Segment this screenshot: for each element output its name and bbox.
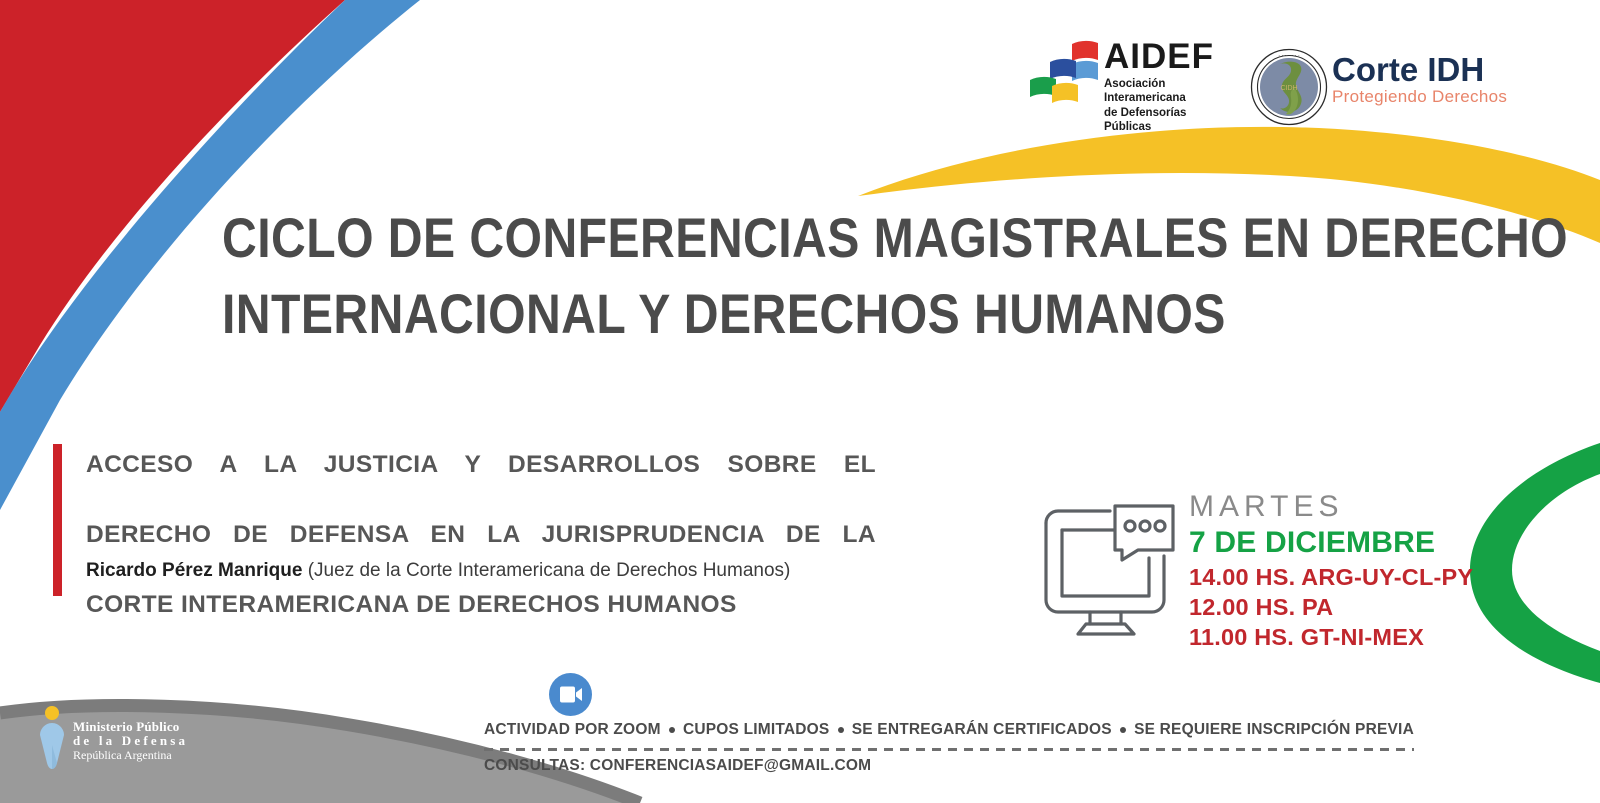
corte-idh-text-block: Corte IDH Protegiendo Derechos <box>1332 52 1507 107</box>
title-line-1: CICLO DE CONFERENCIAS MAGISTRALES EN DER… <box>222 200 1185 276</box>
speaker-name: Ricardo Pérez Manrique <box>86 560 302 581</box>
footer-dashed-divider <box>484 748 1414 751</box>
aidef-text-block: AIDEF Asociación Interamericana de Defen… <box>1104 38 1234 134</box>
corte-idh-tagline: Protegiendo Derechos <box>1332 87 1507 107</box>
aidef-name: AIDEF <box>1104 38 1234 76</box>
schedule-time-0: 14.00 HS. ARG-UY-CL-PY <box>1189 562 1479 592</box>
monitor-chat-icon <box>1018 478 1178 638</box>
header-logos: AIDEF Asociación Interamericana de Defen… <box>1028 30 1508 140</box>
schedule-date: 7 DE DICIEMBRE <box>1189 524 1479 562</box>
footer-item-3: SE REQUIERE INSCRIPCIÓN PREVIA <box>1134 721 1414 739</box>
speaker-line: Ricardo Pérez Manrique (Juez de la Corte… <box>86 560 986 582</box>
footer-items: ACTIVIDAD POR ZOOM CUPOS LIMITADOS SE EN… <box>484 719 1414 741</box>
footer-separator-dot <box>1120 727 1126 733</box>
aidef-subtitle-line2: de Defensorías Públicas <box>1104 106 1234 134</box>
footer-separator-dot <box>669 727 675 733</box>
corte-idh-logo: CIDH · · · · · · · Corte IDH Protegiendo… <box>1250 30 1510 140</box>
schedule-time-1: 12.00 HS. PA <box>1189 592 1479 622</box>
footer-item-0: ACTIVIDAD POR ZOOM <box>484 721 661 739</box>
mpd-line-3: República Argentina <box>73 748 188 762</box>
speaker-role: (Juez de la Corte Interamericana de Dere… <box>302 560 790 581</box>
mpd-line-1: Ministerio Público <box>73 720 188 734</box>
footer-item-2: SE ENTREGARÁN CERTIFICADOS <box>852 721 1112 739</box>
corte-idh-name: Corte IDH <box>1332 52 1507 88</box>
green-arc-shape <box>1470 443 1600 683</box>
svg-text:CIDH: CIDH <box>1280 85 1297 92</box>
mpd-figure-icon <box>35 705 71 771</box>
footer-contact: CONSULTAS: CONFERENCIASAIDEF@GMAIL.COM <box>484 757 871 775</box>
aidef-subtitle-line1: Asociación Interamericana <box>1104 77 1234 105</box>
red-accent-bar <box>53 444 62 596</box>
poster-canvas: AIDEF Asociación Interamericana de Defen… <box>0 0 1600 803</box>
footer-separator-dot <box>838 727 844 733</box>
title-line-2: INTERNACIONAL Y DERECHOS HUMANOS <box>222 276 1185 352</box>
mpd-logo: Ministerio Público de la Defensa Repúbli… <box>35 705 235 775</box>
talk-title: ACCESO A LA JUSTICIA Y DESARROLLOS SOBRE… <box>86 447 876 622</box>
corte-idh-seal-icon: CIDH · · · · · · · <box>1250 48 1328 126</box>
svg-text:· · · · · · ·: · · · · · · · <box>1278 53 1300 59</box>
mpd-line-2: de la Defensa <box>73 734 188 748</box>
schedule-block: MARTES 7 DE DICIEMBRE 14.00 HS. ARG-UY-C… <box>1189 490 1479 652</box>
aidef-logo: AIDEF Asociación Interamericana de Defen… <box>1028 38 1228 133</box>
schedule-weekday: MARTES <box>1189 490 1479 524</box>
page-title: CICLO DE CONFERENCIAS MAGISTRALES EN DER… <box>222 200 1185 352</box>
mpd-text-block: Ministerio Público de la Defensa Repúbli… <box>73 720 188 762</box>
zoom-video-camera-icon <box>549 673 592 716</box>
aidef-pinwheel-flags-icon <box>1028 40 1108 112</box>
footer-item-1: CUPOS LIMITADOS <box>683 721 830 739</box>
schedule-time-2: 11.00 HS. GT-NI-MEX <box>1189 622 1479 652</box>
talk-title-line-3: CORTE INTERAMERICANA DE DERECHOS HUMANOS <box>86 587 876 622</box>
talk-title-line-1: ACCESO A LA JUSTICIA Y DESARROLLOS SOBRE… <box>86 447 876 517</box>
